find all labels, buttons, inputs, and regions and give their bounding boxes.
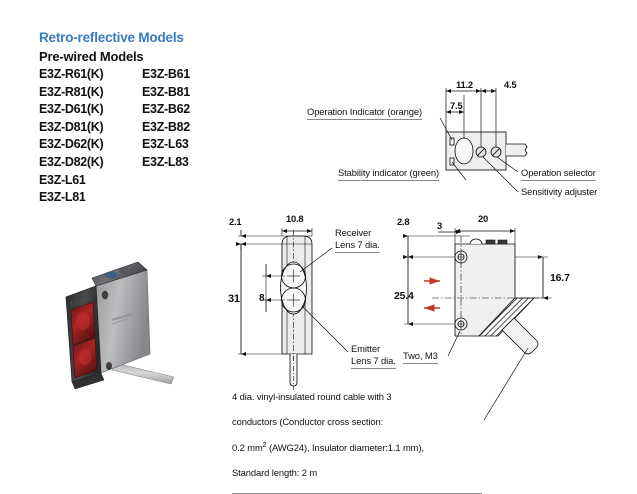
cable-note-line-2: conductors (Conductor cross section: [232, 416, 482, 428]
dimension-8: 8 [259, 293, 264, 304]
model-code: E3Z-R81(K) [39, 84, 142, 102]
callout-emitter-lens-dia: Lens 7 dia. [351, 355, 396, 369]
dimension-31: 31 [228, 293, 240, 305]
model-code: E3Z-B82 [142, 119, 237, 137]
callout-two-m3: Two, M3 [403, 350, 438, 364]
model-code [142, 189, 237, 207]
dimension-11-2: 11.2 [456, 79, 473, 90]
dimension-10-8: 10.8 [286, 213, 303, 224]
dimension-2-1: 2.1 [229, 216, 241, 227]
dimension-25-4: 25.4 [394, 290, 414, 302]
model-row: E3Z-R81(K) E3Z-B81 [39, 84, 239, 102]
model-row: E3Z-L61 [39, 172, 239, 190]
model-row: E3Z-D81(K) E3Z-B82 [39, 119, 239, 137]
model-code: E3Z-D82(K) [39, 154, 142, 172]
datasheet-page: Retro-reflective Models Pre-wired Models… [0, 0, 637, 468]
dimension-7-5: 7.5 [450, 100, 462, 111]
cable-specification-note: 4 dia. vinyl-insulated round cable with … [232, 379, 482, 494]
model-row: E3Z-D82(K) E3Z-L83 [39, 154, 239, 172]
model-code: E3Z-L81 [39, 189, 142, 207]
callout-operation-selector: Operation selector [521, 167, 596, 181]
model-list-block: Retro-reflective Models Pre-wired Models… [39, 30, 239, 207]
page-title: Retro-reflective Models [39, 30, 239, 45]
dimension-2-8: 2.8 [397, 216, 409, 227]
model-row: E3Z-L81 [39, 189, 239, 207]
model-code: E3Z-L83 [142, 154, 237, 172]
cable-note-line-3-post: (AWG24), Insulator diameter:1.1 mm), [266, 443, 423, 454]
model-code: E3Z-R61(K) [39, 66, 142, 84]
model-code: E3Z-L63 [142, 136, 237, 154]
model-code [142, 172, 237, 190]
product-photo [52, 258, 202, 390]
model-code: E3Z-B61 [142, 66, 237, 84]
dimension-20: 20 [478, 213, 488, 224]
cable-note-line-3: 0.2 mm2 (AWG24), Insulator diameter:1.1 … [232, 440, 482, 454]
dimension-4-5: 4.5 [504, 79, 516, 90]
callout-stability-indicator: Stability indicator (green) [338, 167, 439, 181]
callout-sensitivity-adjuster: Sensitivity adjuster [521, 186, 597, 198]
model-row: E3Z-D61(K) E3Z-B62 [39, 101, 239, 119]
dimension-16-7: 16.7 [550, 272, 570, 284]
model-code: E3Z-L61 [39, 172, 142, 190]
dimension-3: 3 [437, 220, 442, 231]
sub-heading: Pre-wired Models [39, 49, 239, 64]
model-code: E3Z-D61(K) [39, 101, 142, 119]
model-code: E3Z-B62 [142, 101, 237, 119]
model-code: E3Z-B81 [142, 84, 237, 102]
model-row: E3Z-D62(K) E3Z-L63 [39, 136, 239, 154]
model-row: E3Z-R61(K) E3Z-B61 [39, 66, 239, 84]
model-code: E3Z-D62(K) [39, 136, 142, 154]
cable-note-line-3-pre: 0.2 mm [232, 443, 263, 454]
cable-note-line-1: 4 dia. vinyl-insulated round cable with … [232, 391, 482, 403]
cable-note-line-4: Standard length: 2 m [232, 467, 482, 479]
model-code: E3Z-D81(K) [39, 119, 142, 137]
callout-receiver: Receiver [335, 227, 371, 239]
callout-emitter: Emitter [351, 343, 380, 355]
callout-operation-indicator: Operation Indicator (orange) [307, 106, 422, 120]
callout-receiver-lens-dia: Lens 7 dia. [335, 239, 380, 253]
